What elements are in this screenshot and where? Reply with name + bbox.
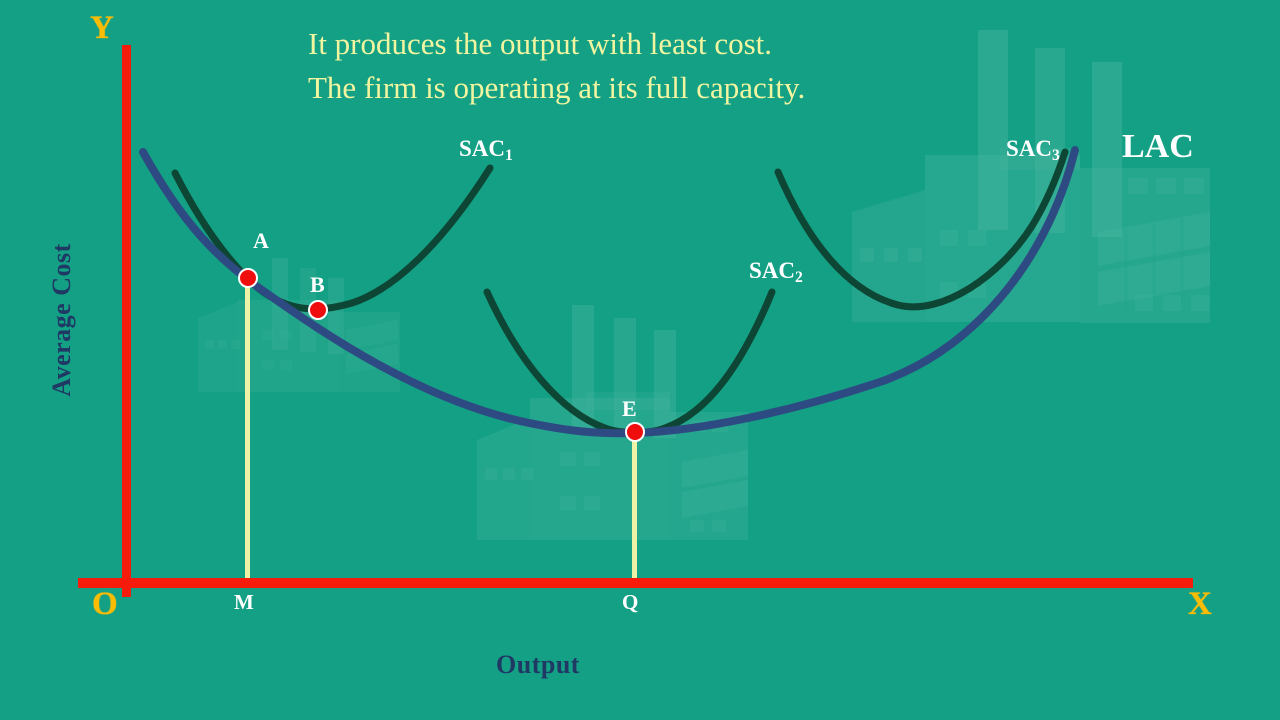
point-label-e: E [622,396,637,422]
x-tick-label-q: Q [622,590,638,615]
data-point-a[interactable] [238,268,258,288]
sac1-label-text: SAC [459,136,505,161]
lac-label: LAC [1122,128,1194,166]
data-point-b[interactable] [308,300,328,320]
sac1-curve [175,168,490,309]
sac1-label: SAC1 [459,136,513,162]
sac3-label: SAC3 [1006,136,1060,162]
dropline-q [632,432,637,583]
caption-line-2: The firm is operating at its full capaci… [308,66,805,110]
point-label-b: B [310,272,325,298]
caption-line-1: It produces the output with least cost. [308,22,805,66]
point-label-a: A [253,228,269,254]
dropline-m [245,278,250,583]
x-axis-title: Output [458,650,618,680]
sac3-label-text: SAC [1006,136,1052,161]
data-point-e[interactable] [625,422,645,442]
origin-letter: O [92,586,118,623]
sac1-label-subscript: 1 [505,147,513,164]
x-axis [78,578,1193,588]
economics-diagram-canvas: Y O X Average Cost Output A B E M Q SAC1… [0,0,1280,720]
sac2-label-subscript: 2 [795,269,803,286]
sac2-label: SAC2 [749,258,803,284]
sac3-label-subscript: 3 [1052,147,1060,164]
sac3-curve [778,152,1065,307]
sac2-label-text: SAC [749,258,795,283]
y-axis-letter: Y [90,10,114,47]
y-axis-title: Average Cost [47,238,77,402]
x-tick-label-m: M [234,590,254,615]
x-axis-letter: X [1188,586,1212,623]
y-axis [122,45,131,597]
lac-curve [143,150,1075,433]
caption-block: It produces the output with least cost. … [308,22,805,110]
